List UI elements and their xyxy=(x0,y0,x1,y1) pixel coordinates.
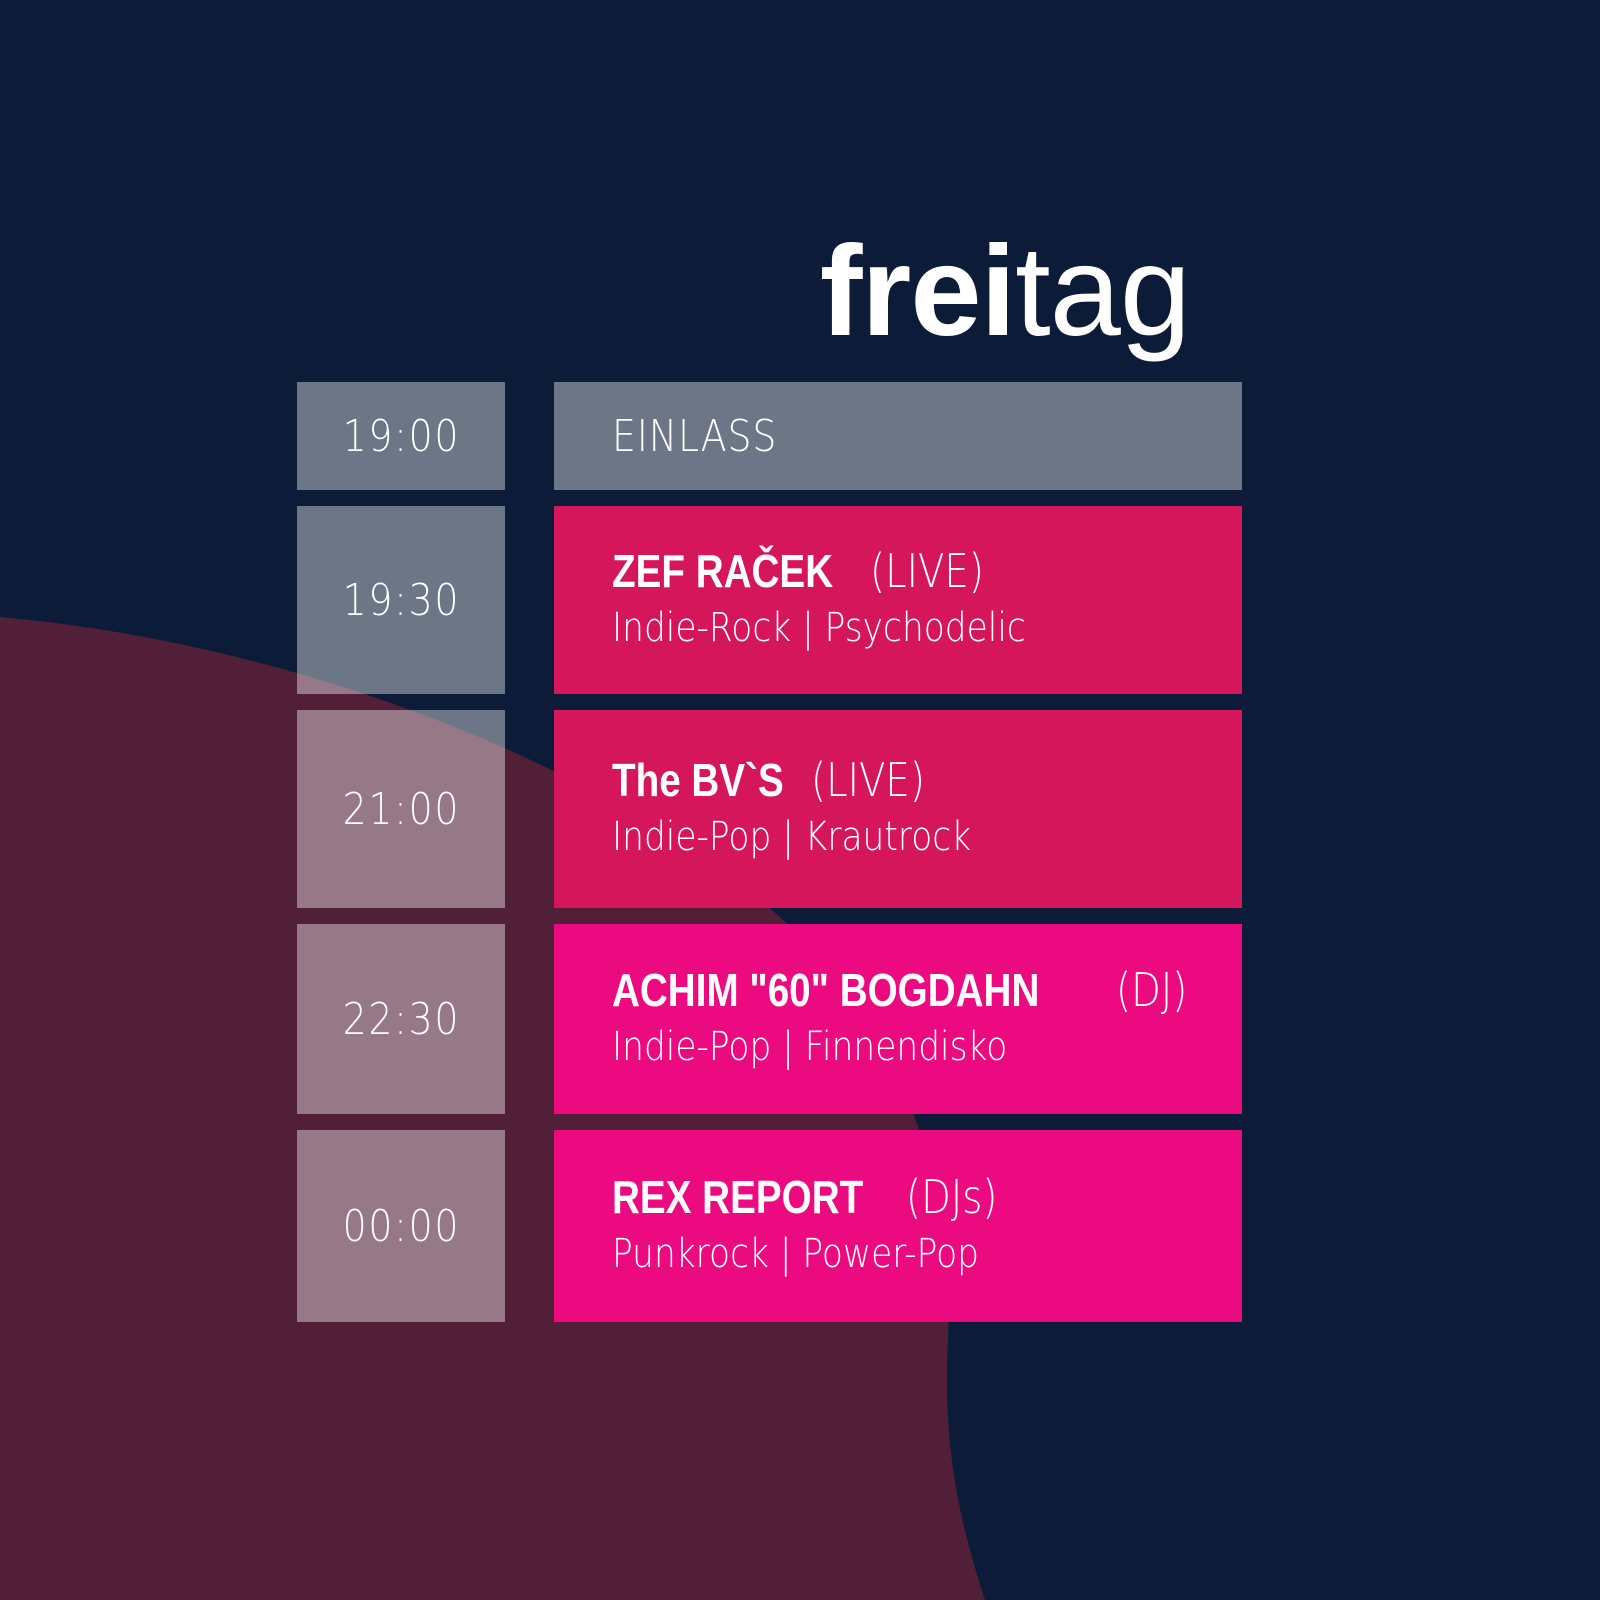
artist-name: REX REPORT xyxy=(612,1173,863,1223)
artist-role: (DJs) xyxy=(906,1173,997,1223)
event-cell-act: ZEF RAČEK(LIVE) Indie-Rock | Psychodelic xyxy=(554,506,1242,694)
schedule-row: 22:30 ACHIM "60" BOGDAHN(DJ) Indie-Pop |… xyxy=(297,924,1242,1114)
artist-name: The BV`S xyxy=(612,756,784,806)
logo-text-light: tag xyxy=(1015,220,1190,363)
time-cell: 00:00 xyxy=(297,1130,505,1322)
genre-label: Indie-Pop | Krautrock xyxy=(612,812,971,862)
event-headline: ZEF RAČEK(LIVE) xyxy=(612,547,1242,597)
time-cell: 19:30 xyxy=(297,506,505,694)
time-label: 19:30 xyxy=(342,575,460,626)
artist-role: (DJ) xyxy=(1116,966,1187,1016)
schedule-row: 21:00 The BV`S(LIVE) Indie-Pop | Krautro… xyxy=(297,710,1242,908)
grid-gap xyxy=(505,1130,554,1322)
event-headline: REX REPORT(DJs) xyxy=(612,1173,1242,1223)
event-cell-act: ACHIM "60" BOGDAHN(DJ) Indie-Pop | Finne… xyxy=(554,924,1242,1114)
event-genre-line: Indie-Pop | Krautrock xyxy=(612,806,1242,862)
artist-role: (LIVE) xyxy=(811,756,925,806)
grid-gap xyxy=(505,382,554,490)
grid-gap xyxy=(505,924,554,1114)
genre-label: Indie-Rock | Psychodelic xyxy=(612,603,1026,653)
schedule-grid: 19:00 EINLASS 19:30 ZEF RAČEK(LIVE) Indi… xyxy=(297,382,1242,1322)
event-cell-einlass: EINLASS xyxy=(554,382,1242,490)
genre-label: Punkrock | Power-Pop xyxy=(612,1229,979,1279)
event-genre-line: Indie-Rock | Psychodelic xyxy=(612,597,1242,653)
event-cell-act: REX REPORT(DJs) Punkrock | Power-Pop xyxy=(554,1130,1242,1322)
event-genre-line: Indie-Pop | Finnendisko xyxy=(612,1016,1242,1072)
logo-text-bold: frei xyxy=(820,220,1015,363)
grid-gap xyxy=(505,506,554,694)
artist-name: ACHIM "60" BOGDAHN xyxy=(612,966,1039,1016)
schedule-row: 19:30 ZEF RAČEK(LIVE) Indie-Rock | Psych… xyxy=(297,506,1242,694)
schedule-row: 19:00 EINLASS xyxy=(297,382,1242,490)
poster-logo: freitag xyxy=(0,228,1190,356)
genre-label: Indie-Pop | Finnendisko xyxy=(612,1022,1007,1072)
event-poster: freitag 19:00 EINLASS 19:30 ZEF RAČEK(LI… xyxy=(0,0,1600,1600)
time-label: 22:30 xyxy=(342,994,460,1045)
time-cell: 22:30 xyxy=(297,924,505,1114)
grid-gap xyxy=(505,710,554,908)
time-cell: 19:00 xyxy=(297,382,505,490)
time-label: 21:00 xyxy=(342,784,460,835)
event-cell-act: The BV`S(LIVE) Indie-Pop | Krautrock xyxy=(554,710,1242,908)
time-cell: 21:00 xyxy=(297,710,505,908)
time-label: 19:00 xyxy=(342,411,460,462)
event-headline: The BV`S(LIVE) xyxy=(612,756,1242,806)
time-label: 00:00 xyxy=(342,1201,460,1252)
event-title: EINLASS xyxy=(612,411,1154,462)
artist-name: ZEF RAČEK xyxy=(612,547,833,597)
schedule-row: 00:00 REX REPORT(DJs) Punkrock | Power-P… xyxy=(297,1130,1242,1322)
event-headline: ACHIM "60" BOGDAHN(DJ) xyxy=(612,966,1242,1016)
event-genre-line: Punkrock | Power-Pop xyxy=(612,1223,1242,1279)
artist-role: (LIVE) xyxy=(870,547,984,597)
